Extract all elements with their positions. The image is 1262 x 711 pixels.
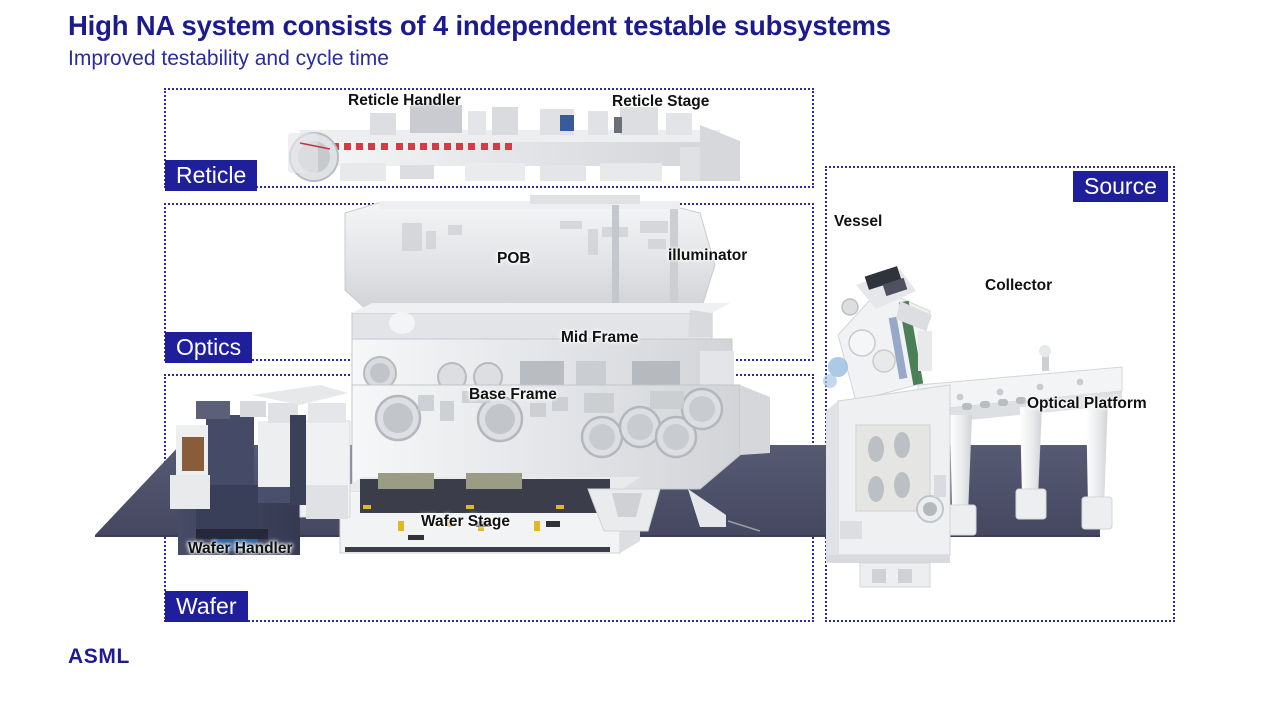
subsystem-frame-source[interactable] <box>825 166 1175 622</box>
subsystem-frame-wafer[interactable] <box>164 374 814 622</box>
callout-pob: POB <box>497 250 531 268</box>
callout-base-frame: Base Frame <box>469 386 557 404</box>
page-title: High NA system consists of 4 independent… <box>68 10 891 42</box>
subsystem-frame-optics[interactable] <box>164 203 814 361</box>
callout-reticle-stage: Reticle Stage <box>612 93 709 111</box>
page-subtitle: Improved testability and cycle time <box>68 47 389 71</box>
subsystem-badge-reticle[interactable]: Reticle <box>165 160 257 191</box>
slide-canvas: High NA system consists of 4 independent… <box>0 0 1262 711</box>
asml-logo: ASML <box>68 645 130 669</box>
callout-reticle-handler: Reticle Handler <box>348 92 461 110</box>
callout-vessel: Vessel <box>834 213 882 231</box>
subsystem-badge-source[interactable]: Source <box>1073 171 1168 202</box>
callout-wafer-stage: Wafer Stage <box>421 513 510 531</box>
callout-optical-platform: Optical Platform <box>1027 395 1147 413</box>
subsystem-badge-wafer[interactable]: Wafer <box>165 591 248 622</box>
callout-mid-frame: Mid Frame <box>561 329 639 347</box>
callout-collector: Collector <box>985 277 1052 295</box>
callout-illuminator: illuminator <box>668 247 747 265</box>
callout-wafer-handler: Wafer Handler <box>188 540 293 558</box>
subsystem-badge-optics[interactable]: Optics <box>165 332 252 363</box>
subsystem-frame-reticle[interactable] <box>164 88 814 188</box>
